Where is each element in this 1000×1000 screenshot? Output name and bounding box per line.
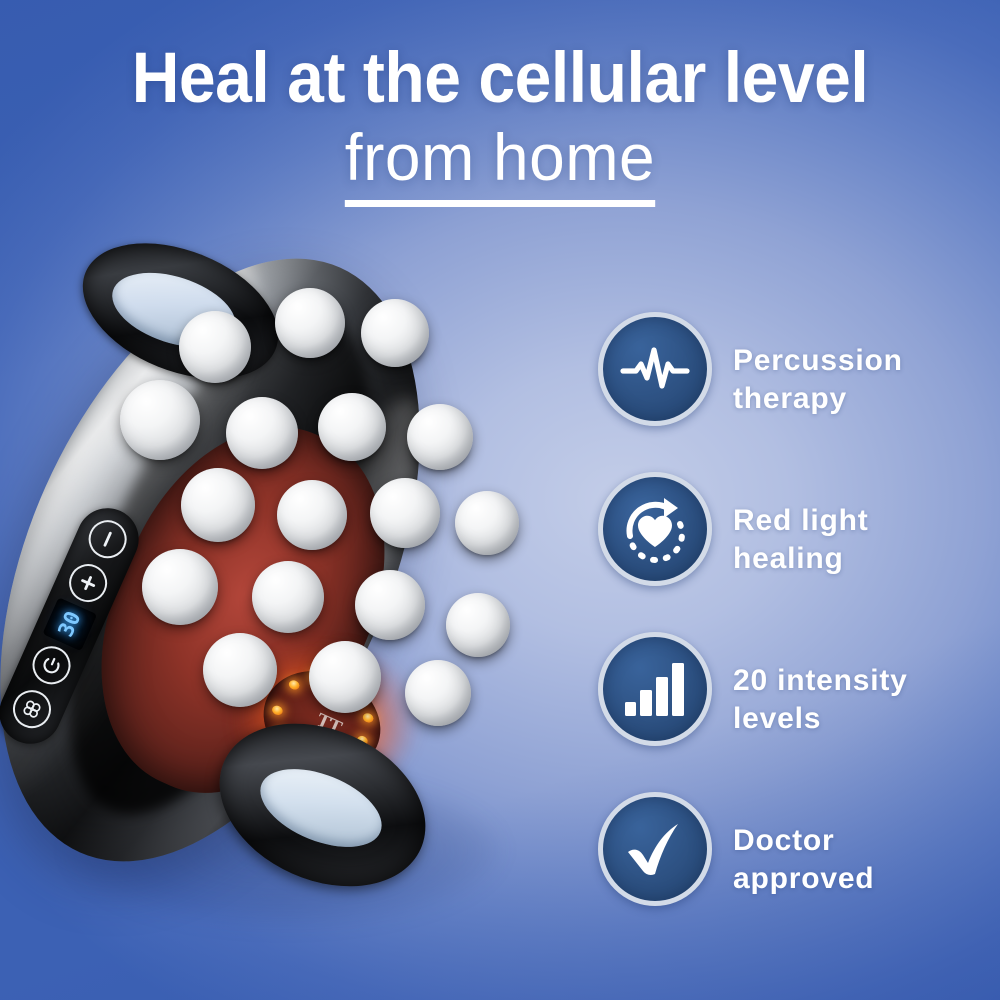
bar-levels-icon — [598, 632, 712, 746]
feature-label: Doctor approved — [733, 822, 874, 898]
checkmark-icon — [598, 792, 712, 906]
feature-item-percussion-therapy[interactable]: Percussion therapy — [598, 300, 998, 460]
feature-label-line-2: therapy — [733, 380, 903, 418]
headline-line-2-wrap: from home — [0, 122, 1000, 207]
headline-block: Heal at the cellular level from home — [0, 42, 1000, 207]
feature-label-line-1: 20 intensity — [733, 662, 908, 700]
feature-list: Percussion therapy Red light healing — [598, 300, 998, 940]
mode-button[interactable] — [26, 640, 76, 690]
headline-line-2: from home — [345, 122, 655, 207]
feature-label-line-2: healing — [733, 540, 869, 578]
power-line-icon — [96, 527, 119, 552]
four-nodes-icon — [17, 695, 46, 724]
plus-icon — [75, 570, 101, 596]
led-display: 30 — [42, 597, 97, 651]
feature-label: Percussion therapy — [733, 342, 903, 418]
feature-label-line-1: Red light — [733, 502, 869, 540]
headline-line-1: Heal at the cellular level — [35, 42, 965, 116]
promo-image-canvas: Heal at the cellular level from home — [0, 0, 1000, 1000]
led-display-value: 30 — [54, 608, 86, 641]
feature-label-line-1: Percussion — [733, 342, 903, 380]
feature-item-intensity-levels[interactable]: 20 intensity levels — [598, 620, 998, 780]
node-select-button[interactable] — [7, 684, 57, 734]
feature-label-line-1: Doctor — [733, 822, 874, 860]
product-device-image: TT 30 — [0, 215, 610, 935]
feature-label-line-2: levels — [733, 700, 908, 738]
pulse-wave-icon — [598, 312, 712, 426]
feature-item-red-light-healing[interactable]: Red light healing — [598, 460, 998, 620]
feature-item-doctor-approved[interactable]: Doctor approved — [598, 780, 998, 940]
heart-refresh-icon — [598, 472, 712, 586]
power-button[interactable] — [83, 514, 133, 564]
increase-button[interactable] — [63, 558, 113, 608]
feature-label: 20 intensity levels — [733, 662, 908, 738]
power-cycle-icon — [38, 652, 64, 678]
feature-label: Red light healing — [733, 502, 869, 578]
feature-label-line-2: approved — [733, 860, 874, 898]
